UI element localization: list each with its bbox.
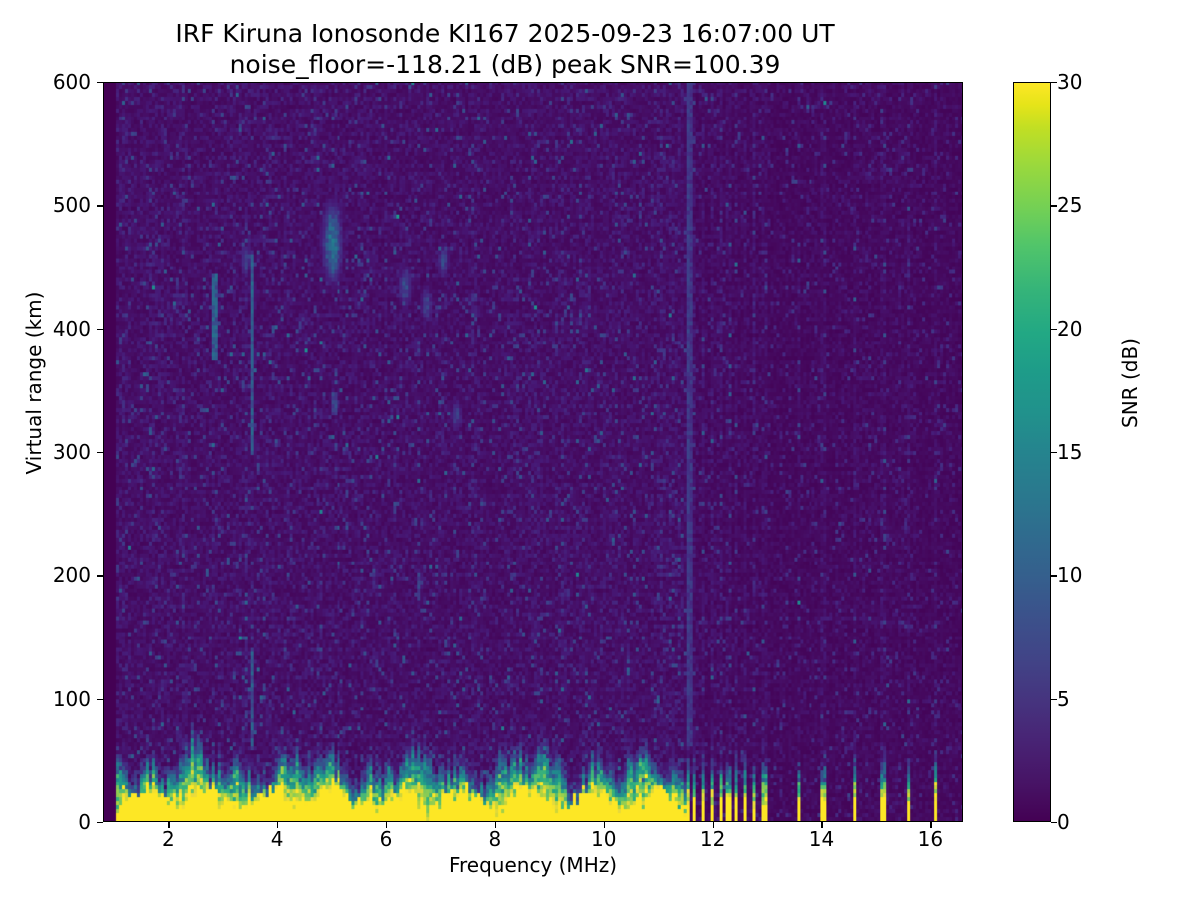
colorbar-tick-label: 10 bbox=[1057, 565, 1107, 585]
figure-title: IRF Kiruna Ionosonde KI167 2025-09-23 16… bbox=[0, 18, 1010, 80]
x-tick-mark bbox=[930, 822, 931, 828]
heatmap-axes bbox=[103, 82, 963, 822]
y-tick-mark bbox=[97, 205, 103, 206]
y-tick-mark bbox=[97, 575, 103, 576]
y-tick-label: 500 bbox=[0, 195, 91, 215]
x-axis-label: Frequency (MHz) bbox=[103, 853, 963, 877]
y-tick-label: 600 bbox=[0, 72, 91, 92]
x-tick-label: 8 bbox=[465, 828, 525, 850]
colorbar-tick-label: 30 bbox=[1057, 72, 1107, 92]
colorbar-tick-mark bbox=[1051, 575, 1057, 576]
colorbar-tick-mark bbox=[1051, 822, 1057, 823]
colorbar-label: SNR (dB) bbox=[1118, 253, 1142, 513]
x-tick-label: 12 bbox=[683, 828, 743, 850]
y-tick-label: 400 bbox=[0, 319, 91, 339]
colorbar-tick-mark bbox=[1051, 205, 1057, 206]
y-tick-label: 100 bbox=[0, 689, 91, 709]
title-line-1: IRF Kiruna Ionosonde KI167 2025-09-23 16… bbox=[175, 19, 834, 48]
y-tick-mark bbox=[97, 699, 103, 700]
ionogram-figure: IRF Kiruna Ionosonde KI167 2025-09-23 16… bbox=[0, 0, 1200, 900]
y-tick-mark bbox=[97, 329, 103, 330]
y-tick-mark bbox=[97, 82, 103, 83]
x-tick-mark bbox=[277, 822, 278, 828]
ionogram-heatmap-canvas bbox=[104, 83, 962, 821]
colorbar-tick-label: 0 bbox=[1057, 812, 1107, 832]
x-tick-label: 10 bbox=[574, 828, 634, 850]
colorbar-tick-label: 25 bbox=[1057, 195, 1107, 215]
x-tick-label: 14 bbox=[791, 828, 851, 850]
x-tick-label: 2 bbox=[138, 828, 198, 850]
x-tick-mark bbox=[495, 822, 496, 828]
colorbar bbox=[1013, 82, 1051, 822]
x-tick-mark bbox=[604, 822, 605, 828]
x-tick-label: 4 bbox=[247, 828, 307, 850]
y-axis-label: Virtual range (km) bbox=[22, 253, 46, 513]
x-tick-mark bbox=[386, 822, 387, 828]
y-tick-label: 200 bbox=[0, 565, 91, 585]
colorbar-tick-label: 15 bbox=[1057, 442, 1107, 462]
title-line-2: noise_floor=-118.21 (dB) peak SNR=100.39 bbox=[0, 49, 1010, 80]
colorbar-tick-mark bbox=[1051, 329, 1057, 330]
colorbar-tick-mark bbox=[1051, 452, 1057, 453]
colorbar-tick-mark bbox=[1051, 82, 1057, 83]
x-tick-mark bbox=[713, 822, 714, 828]
colorbar-tick-mark bbox=[1051, 699, 1057, 700]
colorbar-tick-label: 20 bbox=[1057, 319, 1107, 339]
x-tick-mark bbox=[168, 822, 169, 828]
x-tick-label: 6 bbox=[356, 828, 416, 850]
y-tick-mark bbox=[97, 822, 103, 823]
x-tick-label: 16 bbox=[900, 828, 960, 850]
colorbar-tick-label: 5 bbox=[1057, 689, 1107, 709]
y-tick-label: 0 bbox=[0, 812, 91, 832]
y-tick-label: 300 bbox=[0, 442, 91, 462]
x-tick-mark bbox=[821, 822, 822, 828]
y-tick-mark bbox=[97, 452, 103, 453]
